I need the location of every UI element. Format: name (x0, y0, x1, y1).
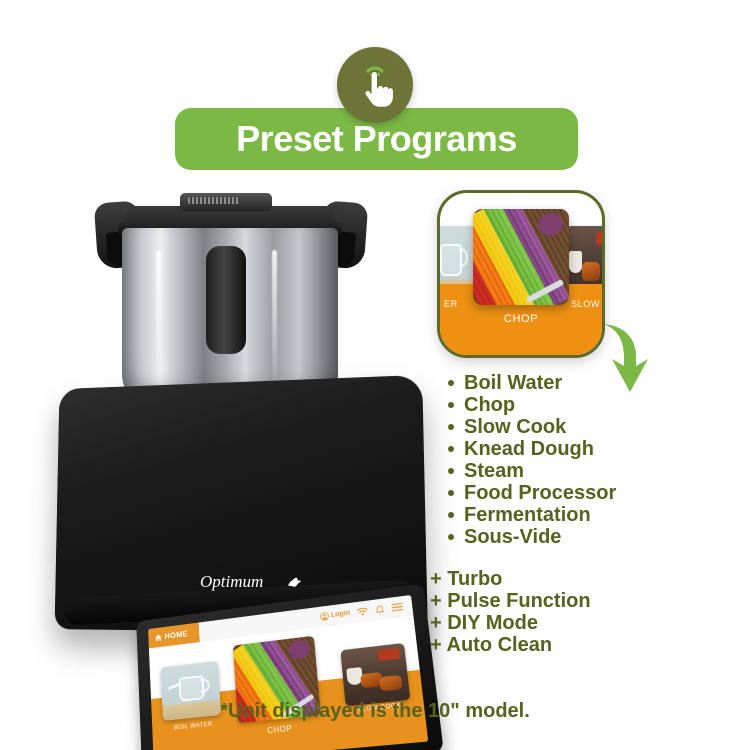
list-item-label: Knead Dough (464, 438, 594, 460)
footnote: *Unit displayed is the 10" model. (0, 700, 750, 723)
list-item: Fermentation (448, 504, 616, 526)
list-item-label: Fermentation (464, 504, 591, 526)
program-card-slow-cook[interactable] (340, 643, 410, 706)
list-item-label: Steam (464, 460, 524, 482)
list-item-label: Sous-Vide (464, 526, 561, 548)
list-item: Boil Water (448, 372, 616, 394)
list-item: + Pulse Function (430, 590, 591, 612)
list-item: Steam (448, 460, 616, 482)
bullet-icon (448, 424, 454, 430)
bullet-icon (448, 380, 454, 386)
list-item-label: Chop (464, 394, 515, 416)
bullet-icon (448, 446, 454, 452)
tap-hand-icon (337, 47, 413, 123)
appliance-illustration: Optimum HOME (30, 180, 430, 650)
list-item: Sous-Vide (448, 526, 616, 548)
bowl-handle (206, 246, 246, 354)
zoom-callout: ER SLOW CHOP (437, 190, 605, 358)
user-account-icon (320, 611, 330, 621)
callout-card-boil-water (437, 226, 476, 300)
list-item-label: Slow Cook (464, 416, 566, 438)
bell-icon[interactable] (375, 604, 385, 615)
wifi-icon[interactable] (356, 606, 368, 616)
home-icon (155, 633, 163, 641)
bullet-icon (448, 512, 454, 518)
callout-label-left: ER (444, 299, 458, 309)
list-item-label: Food Processor (464, 482, 616, 504)
list-item: + Turbo (430, 568, 591, 590)
login-button[interactable]: Login (320, 609, 351, 621)
home-tab-label: HOME (164, 630, 188, 641)
extra-features-list: + Turbo + Pulse Function + DIY Mode + Au… (430, 568, 591, 656)
hamburger-menu-icon[interactable] (391, 602, 403, 612)
preset-programs-list: Boil Water Chop Slow Cook Knead Dough St… (448, 372, 616, 548)
list-item: Slow Cook (448, 416, 616, 438)
bullet-icon (448, 468, 454, 474)
list-item: + DIY Mode (430, 612, 591, 634)
list-item: Knead Dough (448, 438, 616, 460)
callout-card-chop (473, 209, 569, 305)
callout-label-right: SLOW (571, 299, 600, 309)
banner-title: Preset Programs (236, 121, 517, 157)
callout-card-slow-cook (566, 226, 605, 300)
screen-surface: HOME Login (148, 595, 428, 750)
login-label: Login (331, 610, 351, 619)
lid-measuring-cap (180, 193, 272, 211)
list-item-label: Boil Water (464, 372, 562, 394)
list-item: Chop (448, 394, 616, 416)
callout-label-chop: CHOP (440, 313, 602, 325)
list-item: + Auto Clean (430, 634, 591, 656)
bullet-icon (448, 490, 454, 496)
marketing-slide: Preset Programs Optimum (0, 0, 750, 750)
bullet-icon (448, 402, 454, 408)
bullet-icon (448, 534, 454, 540)
list-item: Food Processor (448, 482, 616, 504)
